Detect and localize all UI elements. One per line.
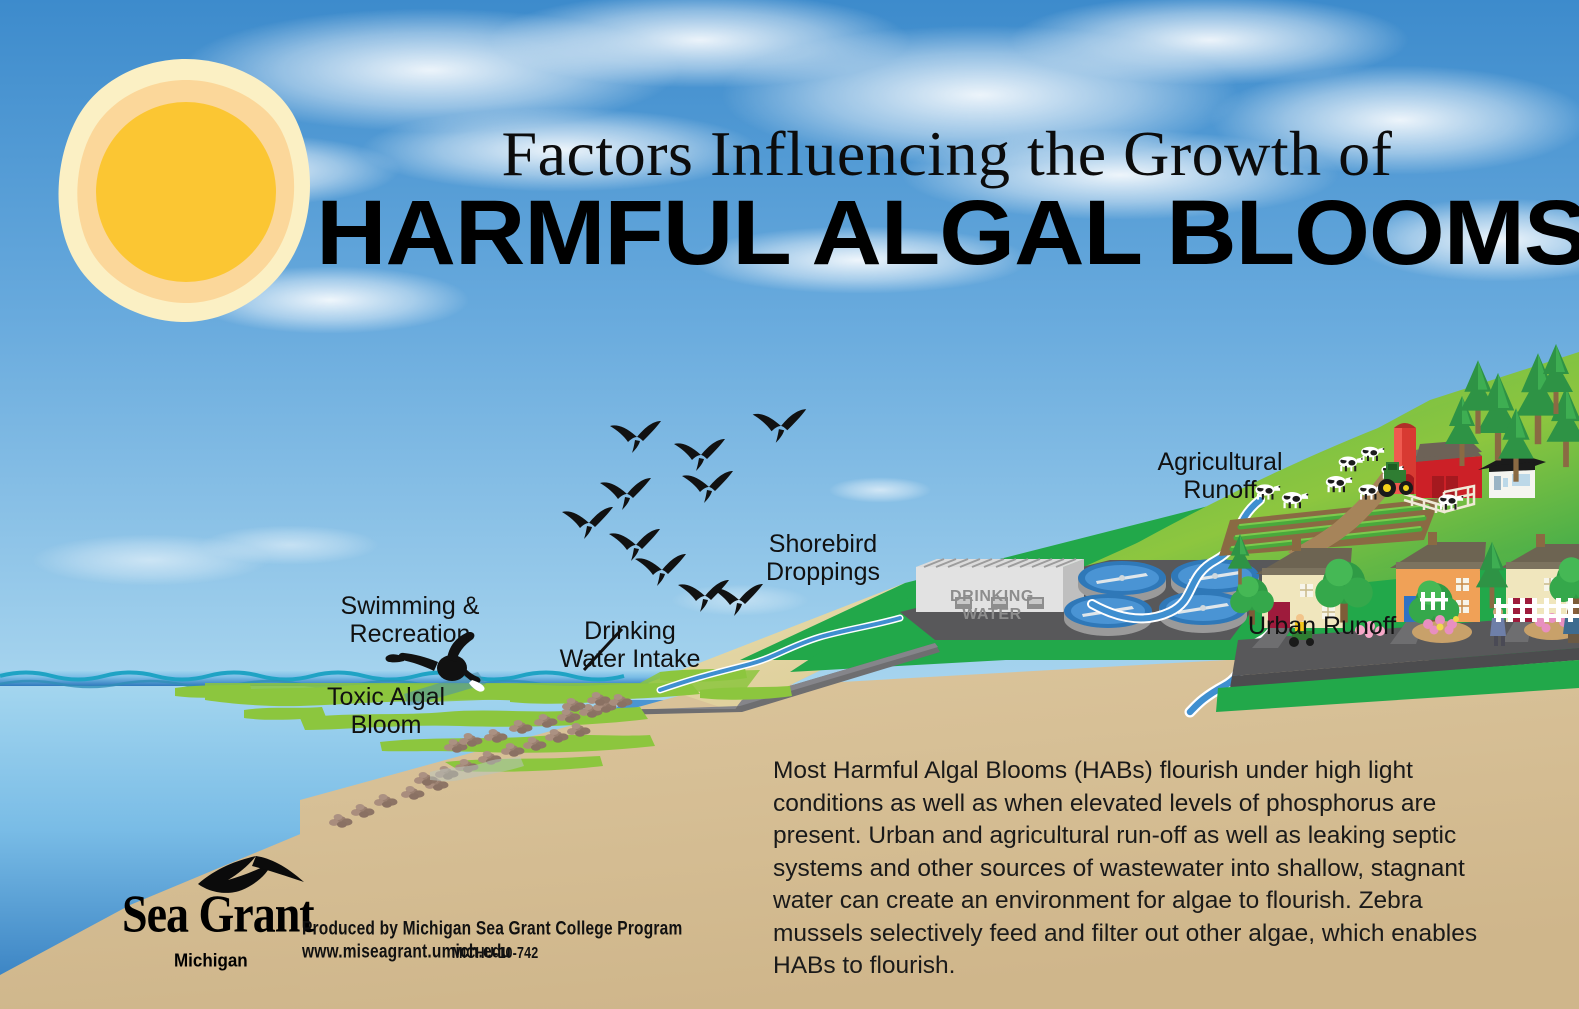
sea-grant-logo: Sea Grant Michigan xyxy=(122,888,302,970)
credit-producer: Produced by Michigan Sea Grant College P… xyxy=(302,918,682,941)
plant-sign-label: DRINKING WATER xyxy=(922,588,1062,624)
credit-publication-code: MICHU-10-742 xyxy=(452,944,538,962)
logo-state: Michigan xyxy=(174,950,302,972)
logo-wordmark: Sea Grant xyxy=(122,888,302,941)
infographic-poster: Factors Influencing the Growth of HARMFU… xyxy=(0,0,1579,1009)
body-paragraph: Most Harmful Algal Blooms (HABs) flouris… xyxy=(773,755,1515,983)
